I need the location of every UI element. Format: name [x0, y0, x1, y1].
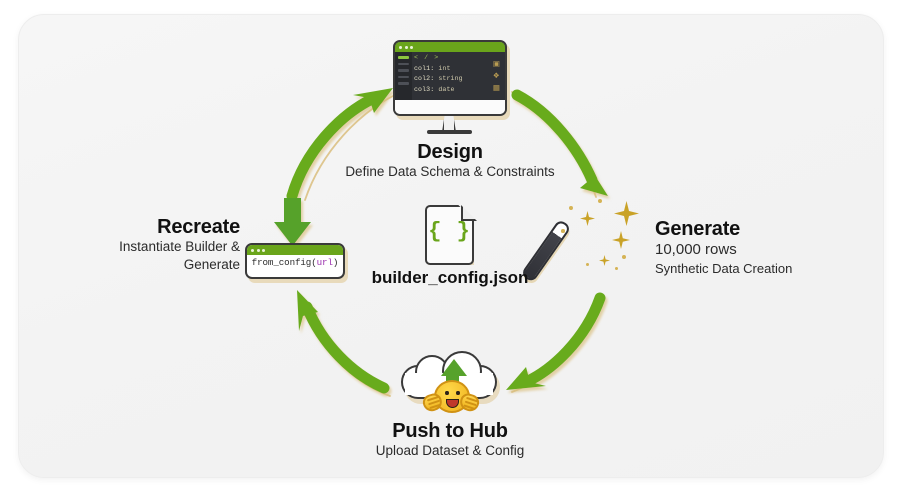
recreate-subtitle-2: Generate: [0, 256, 240, 274]
upload-arrow-head: [441, 359, 467, 376]
monitor-body: < / > col1: int col2: string col3: date …: [393, 40, 507, 116]
design-subtitle: Define Data Schema & Constraints: [0, 163, 900, 181]
generate-subtitle: 10,000 rows: [655, 240, 792, 260]
json-file-label: builder_config.json: [330, 268, 570, 288]
code-value-3: date: [438, 86, 454, 93]
sparkle-dot-f: [586, 263, 589, 266]
code-suffix: ): [333, 257, 338, 268]
recreate-title: Recreate: [0, 216, 240, 238]
push-to-hub-title: Push to Hub: [0, 420, 900, 442]
emoji-eye-right: [456, 391, 460, 395]
cloud-upload-icon: [397, 351, 505, 413]
recreate-label-group: Recreate Instantiate Builder & Generate: [0, 216, 240, 274]
sparkle-dot-e: [615, 267, 618, 270]
emoji-mouth: [446, 399, 459, 408]
json-file-icon: { }: [425, 205, 477, 267]
code-window-snippet: from_config(url): [247, 257, 343, 268]
code-argument: url: [317, 257, 333, 268]
database-icon: ▣: [493, 60, 500, 68]
monitor-stand-base: [427, 130, 472, 134]
code-value-1: int: [438, 65, 450, 72]
sparkle-dot-b: [598, 199, 602, 203]
code-prefix: from_config(: [252, 257, 317, 268]
design-monitor-icon: < / > col1: int col2: string col3: date …: [393, 40, 509, 140]
generate-label-group: Generate 10,000 rows Synthetic Data Crea…: [655, 218, 792, 277]
window-dots-icon: [251, 249, 265, 252]
sparkle-dot-d: [622, 255, 626, 259]
code-value-2: string: [438, 75, 462, 82]
code-window-titlebar: [247, 245, 343, 255]
sparkle-small-b: [599, 255, 610, 266]
sparkle-medium: [612, 231, 630, 249]
code-key-1: col1:: [414, 65, 434, 72]
code-key-3: col3:: [414, 86, 434, 93]
sparkle-dot-a: [569, 206, 573, 210]
editor-sidebar: [395, 52, 412, 100]
sparkle-large: [614, 201, 639, 226]
diagram-canvas: < / > col1: int col2: string col3: date …: [0, 0, 900, 491]
editor-code-area: < / > col1: int col2: string col3: date: [414, 53, 463, 96]
code-tag: < / >: [414, 53, 463, 64]
calendar-icon: ▦: [493, 84, 500, 92]
monitor-titlebar: [395, 42, 505, 52]
generate-title: Generate: [655, 218, 792, 240]
push-to-hub-label-group: Push to Hub Upload Dataset & Config: [0, 420, 900, 460]
file-braces-glyph: { }: [425, 221, 474, 243]
emoji-eye-left: [445, 391, 449, 395]
code-key-2: col2:: [414, 75, 434, 82]
monitor-bezel: [395, 100, 505, 115]
monitor-screen: < / > col1: int col2: string col3: date …: [395, 42, 505, 100]
design-title: Design: [0, 141, 900, 163]
recreate-subtitle: Instantiate Builder &: [0, 238, 240, 256]
puzzle-icon: ❖: [493, 72, 500, 80]
window-dots-icon: [399, 46, 413, 49]
generate-subtitle-2: Synthetic Data Creation: [655, 260, 792, 277]
push-to-hub-subtitle: Upload Dataset & Config: [0, 442, 900, 460]
sparkle-small-a: [580, 211, 595, 226]
design-label-group: Design Define Data Schema & Constraints: [0, 141, 900, 181]
sparkle-dot-c: [561, 229, 565, 233]
editor-type-icons: ▣ ❖ ▦: [493, 60, 500, 92]
